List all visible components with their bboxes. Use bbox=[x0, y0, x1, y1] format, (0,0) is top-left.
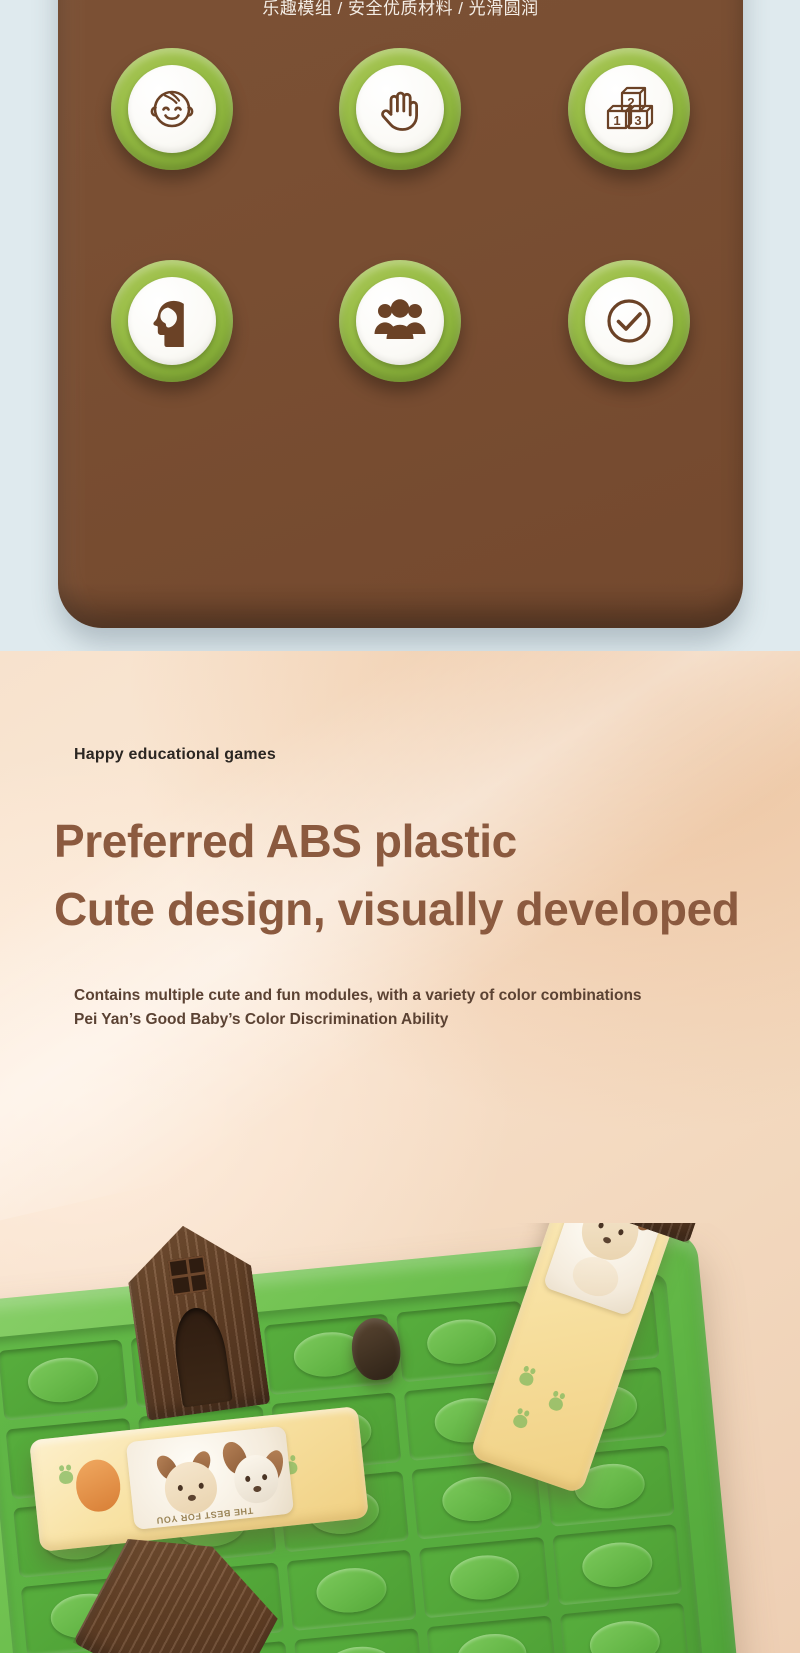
feature-badge-hand[interactable] bbox=[339, 48, 461, 170]
dog-eye-icon bbox=[245, 1476, 251, 1482]
block-number-1: 1 bbox=[613, 113, 620, 128]
product-photo: THE BEST FOR YOU bbox=[0, 1223, 800, 1653]
feature-badge-baby[interactable] bbox=[111, 48, 233, 170]
paw-print-icon bbox=[512, 1413, 529, 1430]
feature-badge-grid: 2 1 3 bbox=[58, 48, 743, 382]
baby-face-icon bbox=[145, 82, 199, 136]
badge-face: 2 1 3 bbox=[585, 65, 673, 153]
feature-badge-brain[interactable] bbox=[111, 260, 233, 382]
board-peg bbox=[580, 1540, 653, 1590]
subcopy-line-2: Pei Yan’s Good Baby’s Color Discriminati… bbox=[74, 1008, 642, 1032]
head-brain-icon bbox=[146, 294, 198, 348]
board-peg bbox=[425, 1317, 498, 1367]
board-peg bbox=[588, 1618, 661, 1653]
open-hand-icon bbox=[374, 83, 426, 135]
board-peg bbox=[455, 1631, 528, 1653]
background-sheen bbox=[0, 651, 800, 1222]
cat-sticker bbox=[74, 1457, 123, 1513]
paw-print-icon bbox=[58, 1470, 73, 1484]
block-number-3: 3 bbox=[634, 113, 641, 128]
dog-nose-icon bbox=[602, 1236, 612, 1244]
dog-nose-icon bbox=[253, 1486, 262, 1493]
dog-eye-icon bbox=[262, 1474, 268, 1480]
house-window bbox=[168, 1255, 210, 1296]
board-peg bbox=[26, 1355, 99, 1405]
board-peg bbox=[322, 1644, 395, 1653]
badge-face bbox=[585, 277, 673, 365]
board-cell bbox=[0, 1339, 128, 1421]
feature-badge-blocks[interactable]: 2 1 3 bbox=[568, 48, 690, 170]
card-tagline: 乐趣模组 / 安全优质材料 / 光滑圆润 bbox=[58, 0, 743, 19]
badge-face bbox=[356, 277, 444, 365]
board-cell bbox=[427, 1615, 558, 1653]
feature-card: 乐趣模组 / 安全优质材料 / 光滑圆润 bbox=[58, 0, 743, 628]
feature-badge-check[interactable] bbox=[568, 260, 690, 382]
product-section: Happy educational games Preferred ABS pl… bbox=[0, 651, 800, 1653]
board-peg bbox=[440, 1474, 513, 1524]
subcopy-block: Contains multiple cute and fun modules, … bbox=[74, 984, 642, 1032]
board-peg bbox=[315, 1565, 388, 1615]
dog-eye-icon bbox=[198, 1483, 204, 1489]
people-group-icon bbox=[373, 298, 427, 344]
board-peg bbox=[448, 1553, 521, 1603]
board-cell bbox=[294, 1628, 425, 1653]
board-cell bbox=[559, 1603, 690, 1653]
board-cell bbox=[419, 1537, 550, 1619]
badge-face bbox=[356, 65, 444, 153]
features-section: 乐趣模组 / 安全优质材料 / 光滑圆润 bbox=[0, 0, 800, 651]
paw-print-icon bbox=[518, 1371, 535, 1388]
board-cell bbox=[552, 1524, 683, 1606]
dog-eye-icon bbox=[618, 1229, 625, 1236]
board-cell bbox=[286, 1550, 417, 1632]
headline-line-2: Cute design, visually developed bbox=[54, 882, 739, 936]
dog-nose-icon bbox=[188, 1494, 197, 1501]
paw-print-icon bbox=[547, 1396, 564, 1413]
number-blocks-icon: 2 1 3 bbox=[602, 84, 656, 134]
dog-eye-icon bbox=[178, 1485, 184, 1491]
dog-house-top bbox=[122, 1223, 271, 1421]
eyebrow-text: Happy educational games bbox=[74, 746, 276, 764]
badge-face bbox=[128, 65, 216, 153]
block-number-2: 2 bbox=[627, 95, 634, 110]
headline-line-1: Preferred ABS plastic bbox=[54, 814, 517, 868]
subcopy-line-1: Contains multiple cute and fun modules, … bbox=[74, 984, 642, 1008]
dog-eye-icon bbox=[598, 1223, 605, 1229]
badge-face bbox=[128, 277, 216, 365]
feature-badge-group[interactable] bbox=[339, 260, 461, 382]
check-circle-icon bbox=[602, 294, 656, 348]
